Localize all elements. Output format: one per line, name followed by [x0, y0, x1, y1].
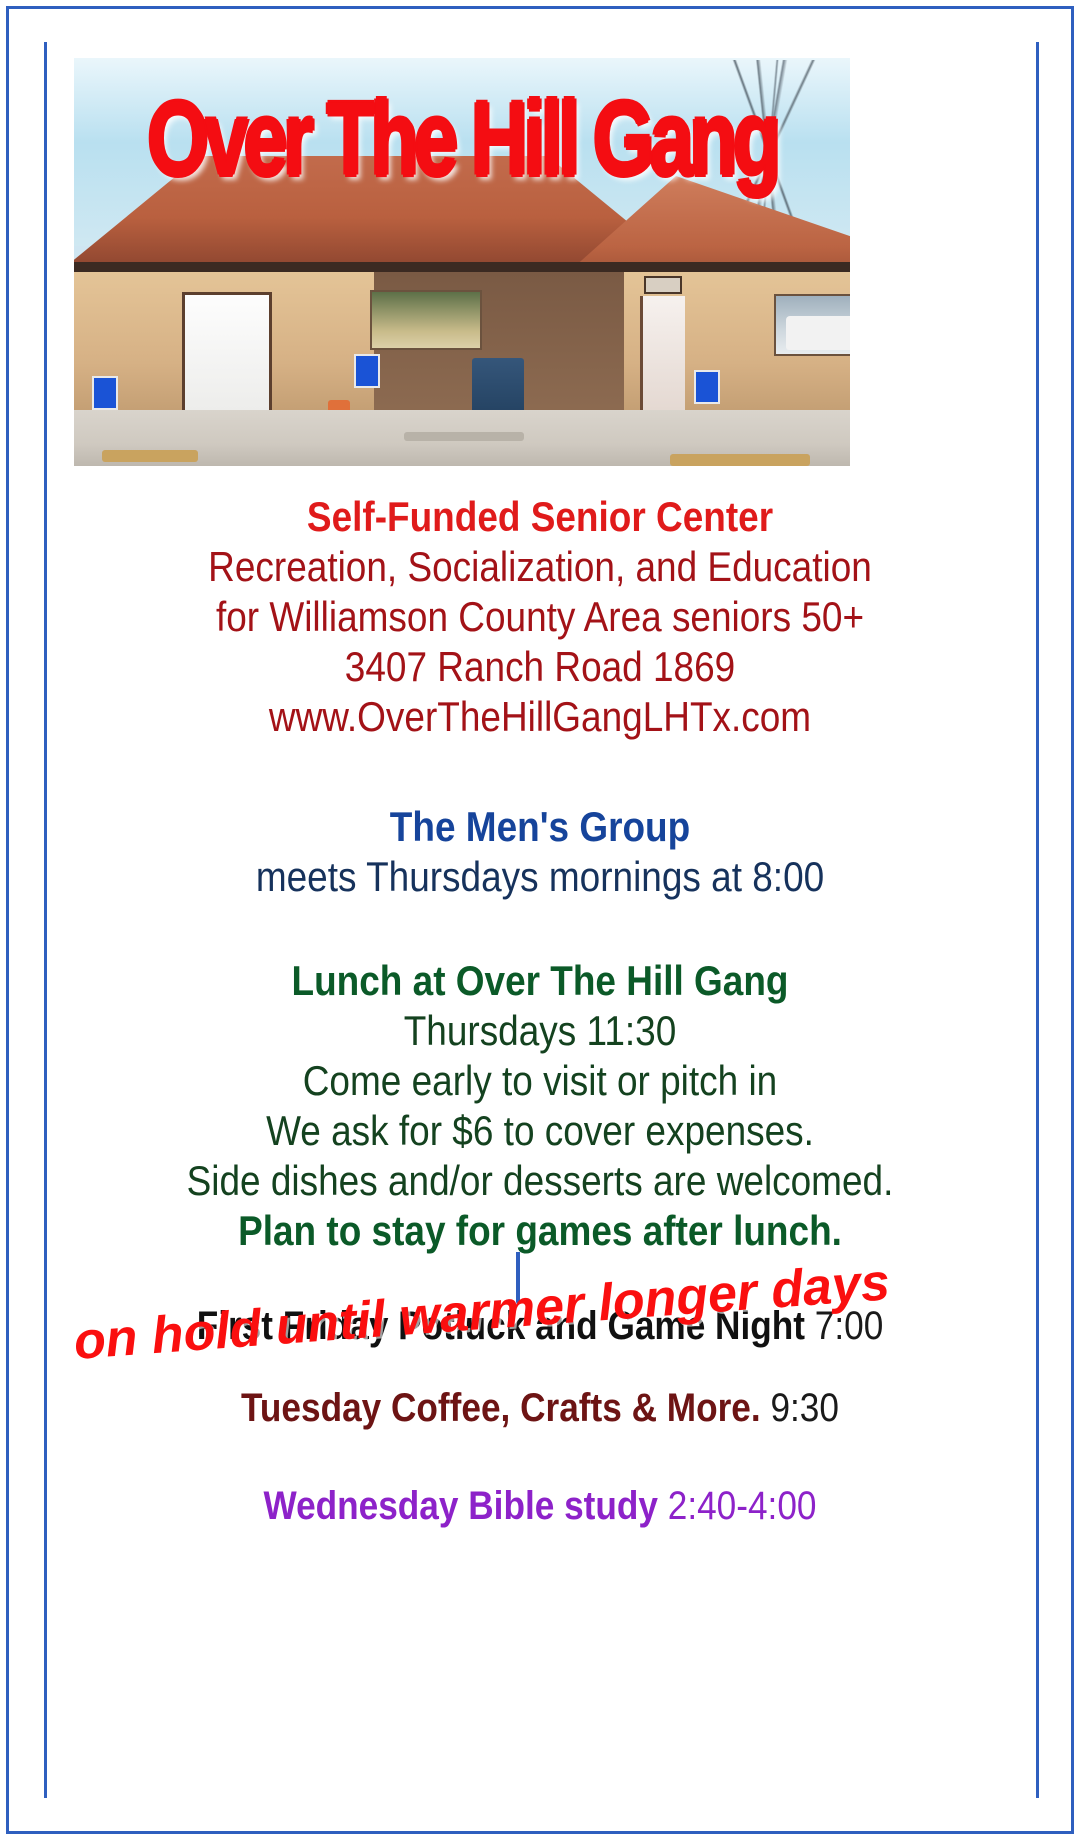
mens-group-detail: meets Thursdays mornings at 8:00 — [114, 852, 966, 902]
first-friday-time: 7:00 — [815, 1304, 884, 1348]
tuesday-spacer — [761, 1386, 771, 1430]
pavement-seam — [404, 432, 524, 441]
left-rule — [44, 42, 47, 1798]
about-block: Self-Funded Senior Center Recreation, So… — [56, 492, 1024, 742]
about-line-1: Recreation, Socialization, and Education — [114, 542, 966, 592]
lunch-footer: Plan to stay for games after lunch. — [114, 1206, 966, 1256]
front-door — [182, 292, 272, 420]
mens-group-heading: The Men's Group — [114, 802, 966, 852]
address-plate — [644, 276, 682, 294]
first-friday-line: First Friday Potluck and Game Night 7:00 — [114, 1302, 966, 1350]
tuesday-time: 9:30 — [770, 1386, 839, 1430]
front-window — [370, 290, 482, 350]
first-friday-label: First Friday Potluck and Game Night — [197, 1304, 805, 1348]
tuesday-block: Tuesday Coffee, Crafts & More. 9:30 — [56, 1384, 1024, 1432]
flyer-page: Over The Hill Gang Self-Funded Senior Ce… — [0, 0, 1080, 1840]
mens-group-block: The Men's Group meets Thursdays mornings… — [56, 802, 1024, 902]
lunch-block: Lunch at Over The Hill Gang Thursdays 11… — [56, 956, 1024, 1256]
first-friday-block: First Friday Potluck and Game Night 7:00 — [56, 1302, 1024, 1350]
secondary-door — [640, 296, 685, 418]
lunch-time: Thursdays 11:30 — [114, 1006, 966, 1056]
first-friday-spacer — [805, 1304, 815, 1348]
flyer-content: Over The Hill Gang Self-Funded Senior Ce… — [56, 44, 1024, 1796]
senior-center-photo — [74, 58, 850, 466]
lunch-line-cost: We ask for $6 to cover expenses. — [114, 1106, 966, 1156]
wednesday-spacer — [658, 1484, 668, 1528]
wednesday-block: Wednesday Bible study 2:40-4:00 — [56, 1482, 1024, 1530]
wednesday-time: 2:40-4:00 — [668, 1484, 817, 1528]
lunch-line-sides: Side dishes and/or desserts are welcomed… — [114, 1156, 966, 1206]
parking-curb — [102, 450, 198, 462]
tuesday-label: Tuesday Coffee, Crafts & More. — [241, 1386, 761, 1430]
lunch-line-come-early: Come early to visit or pitch in — [114, 1056, 966, 1106]
about-heading: Self-Funded Senior Center — [114, 492, 966, 542]
white-pickup-truck — [786, 316, 850, 350]
blue-sign-icon — [92, 376, 118, 410]
about-website[interactable]: www.OverTheHillGangLHTx.com — [114, 692, 966, 742]
wednesday-line: Wednesday Bible study 2:40-4:00 — [114, 1482, 966, 1530]
wednesday-label: Wednesday Bible study — [263, 1484, 657, 1528]
about-line-2: for Williamson County Area seniors 50+ — [114, 592, 966, 642]
blue-sign-icon — [694, 370, 720, 404]
about-address: 3407 Ranch Road 1869 — [114, 642, 966, 692]
tuesday-line: Tuesday Coffee, Crafts & More. 9:30 — [114, 1384, 966, 1432]
parking-curb — [670, 454, 810, 466]
accessibility-sign-icon — [354, 354, 380, 388]
lunch-heading: Lunch at Over The Hill Gang — [114, 956, 966, 1006]
right-rule — [1036, 42, 1039, 1798]
section-divider — [516, 1252, 520, 1304]
